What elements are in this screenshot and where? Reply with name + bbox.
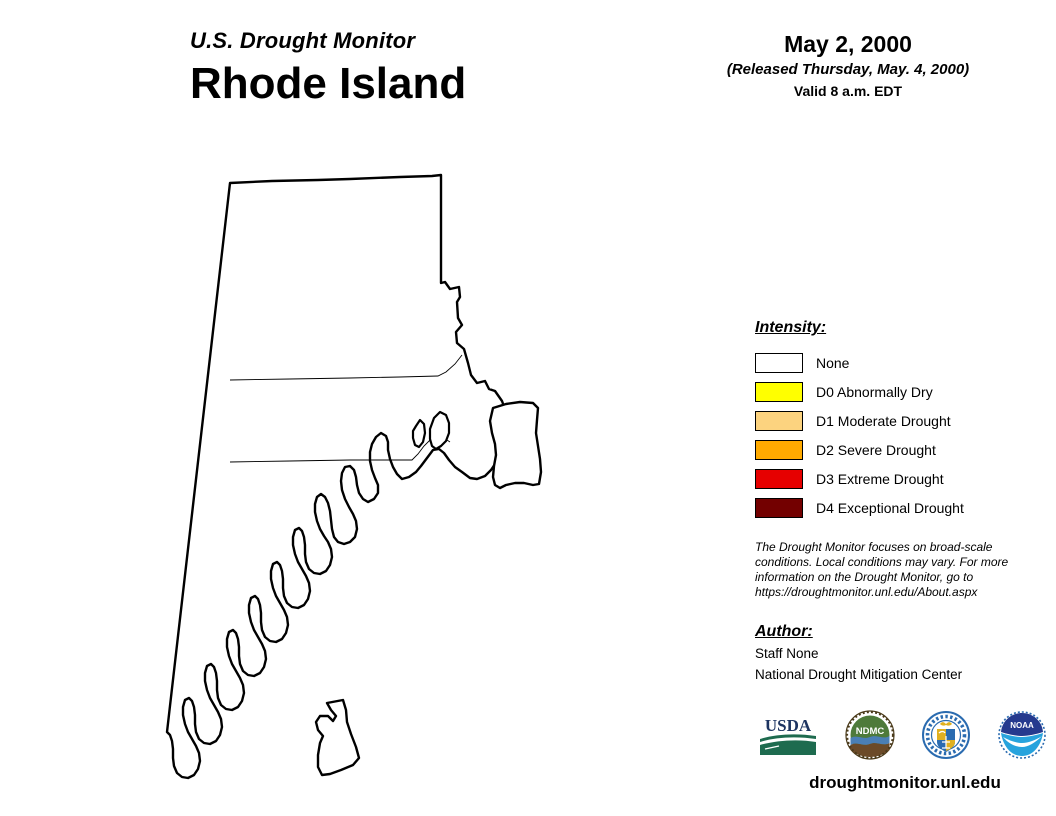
legend-label-d4: D4 Exceptional Drought [816, 499, 964, 517]
legend-label-d2: D2 Severe Drought [816, 441, 936, 459]
valid-time: Valid 8 a.m. EDT [640, 82, 1056, 101]
legend-item-d2[interactable]: D2 Severe Drought [755, 435, 1055, 464]
legend-swatch-d4 [755, 498, 803, 518]
legend-item-d4[interactable]: D4 Exceptional Drought [755, 493, 1055, 522]
legend-label-d3: D3 Extreme Drought [816, 470, 944, 488]
svg-text:NOAA: NOAA [1010, 721, 1034, 730]
rhode-island-mainland [167, 175, 531, 778]
legend-item-d0[interactable]: D0 Abnormally Dry [755, 377, 1055, 406]
legend-swatch-d2 [755, 440, 803, 460]
ndmc-logo[interactable]: NDMC [845, 710, 895, 760]
block-island [316, 700, 359, 775]
legend-label-none: None [816, 354, 849, 372]
legend-panel: Intensity: None D0 Abnormally Dry D1 Mod… [755, 318, 1055, 684]
legend-swatch-d1 [755, 411, 803, 431]
legend-label-d0: D0 Abnormally Dry [816, 383, 933, 401]
state-outline-mainland [167, 175, 531, 778]
author-heading: Author: [755, 622, 1055, 642]
usda-logo[interactable]: USDA [757, 712, 819, 758]
agency-logos: USDA NDMC NOAA [757, 706, 1047, 764]
legend-label-d1: D1 Moderate Drought [816, 412, 951, 430]
island-aquidneck [490, 402, 541, 488]
author-name: Staff None [755, 645, 1055, 663]
legend-heading: Intensity: [755, 318, 1055, 338]
page-title: Rhode Island [190, 58, 610, 110]
legend-item-none[interactable]: None [755, 348, 1055, 377]
legend-swatch-none [755, 353, 803, 373]
program-title: U.S. Drought Monitor [190, 28, 610, 54]
map-date: May 2, 2000 [640, 30, 1056, 58]
svg-text:USDA: USDA [765, 716, 812, 735]
legend-swatch-d3 [755, 469, 803, 489]
drought-map [150, 150, 630, 800]
svg-text:NDMC: NDMC [856, 726, 885, 737]
disclaimer-text: The Drought Monitor focuses on broad-sca… [755, 540, 1013, 600]
website-url[interactable]: droughtmonitor.unl.edu [755, 772, 1055, 794]
author-organization: National Drought Mitigation Center [755, 666, 1055, 684]
header-left-block: U.S. Drought Monitor Rhode Island [190, 28, 610, 110]
legend-item-d1[interactable]: D1 Moderate Drought [755, 406, 1055, 435]
usdc-seal-logo[interactable] [921, 710, 971, 760]
legend-swatch-d0 [755, 382, 803, 402]
release-date: (Released Thursday, May. 4, 2000) [640, 60, 1056, 80]
block-island-outline [316, 700, 359, 775]
legend-item-d3[interactable]: D3 Extreme Drought [755, 464, 1055, 493]
noaa-logo[interactable]: NOAA [997, 710, 1047, 760]
header-right-block: May 2, 2000 (Released Thursday, May. 4, … [640, 30, 1056, 101]
